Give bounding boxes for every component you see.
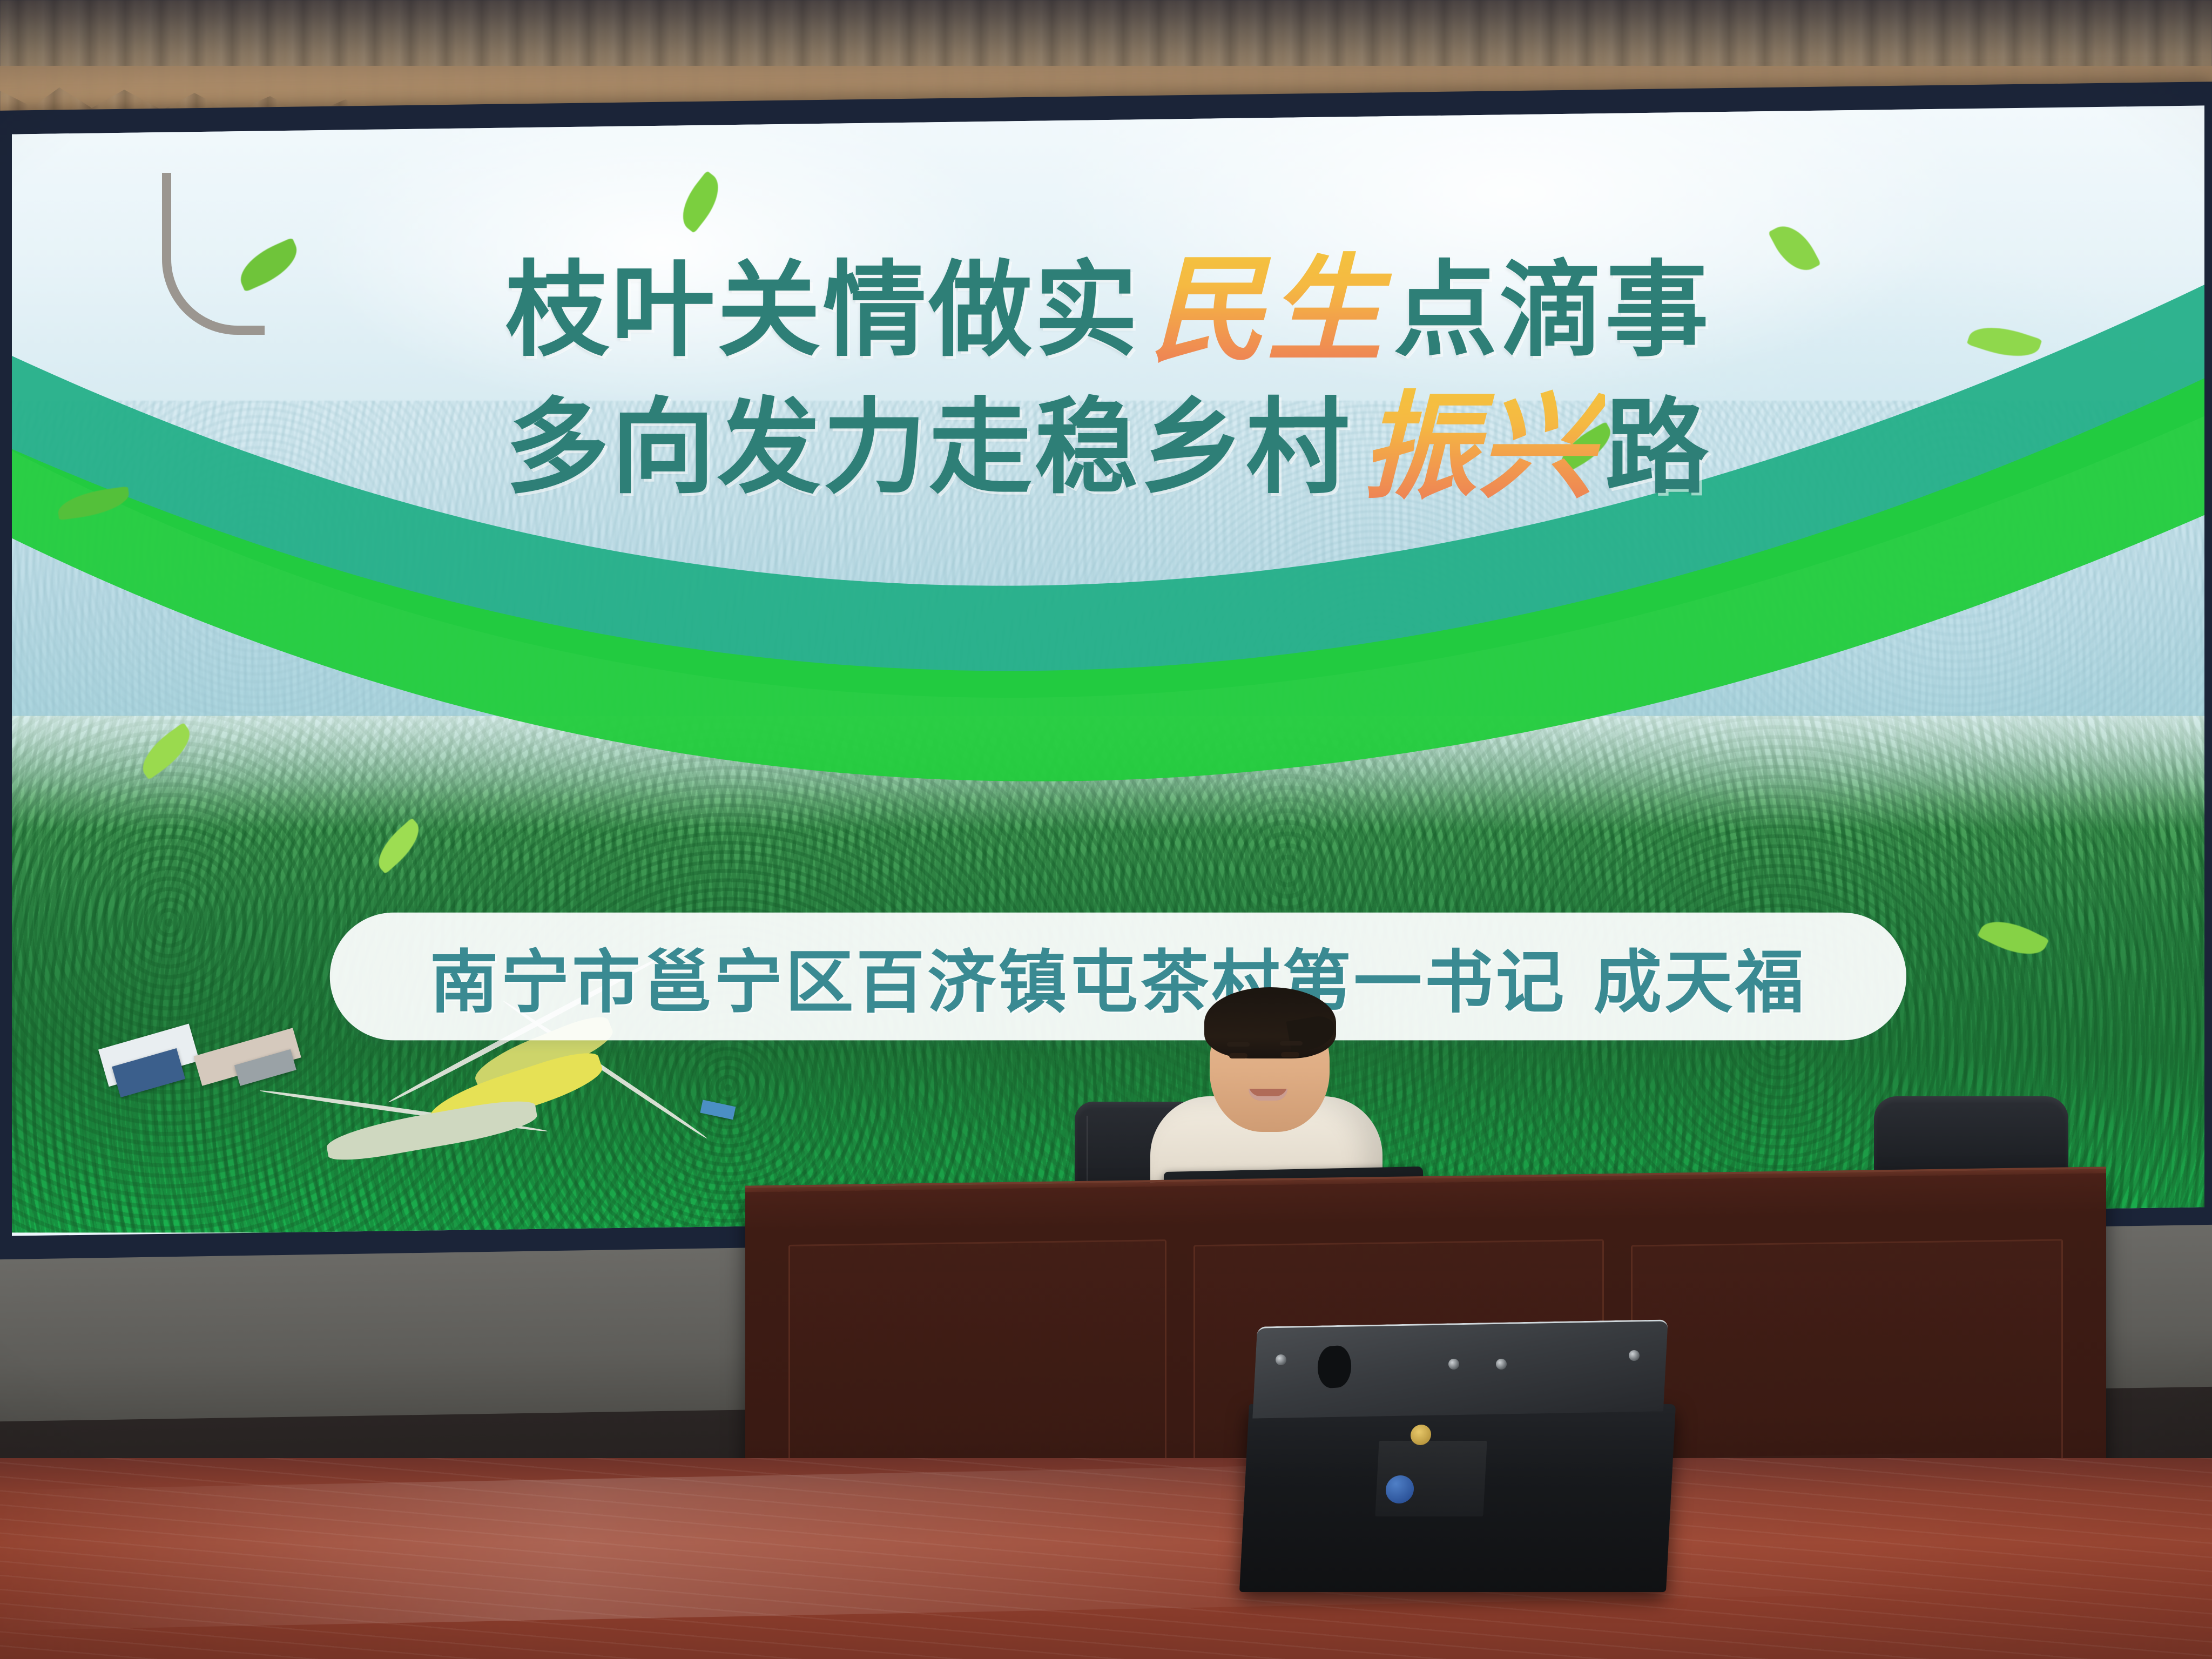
speaker-eye-right [1281, 1052, 1299, 1057]
village-road [259, 1088, 548, 1133]
headline-l2-part1: 多向发力走稳乡村 [505, 387, 1352, 508]
village-building [234, 1049, 296, 1086]
terraced-field [424, 1046, 606, 1138]
speaker-hair [1204, 987, 1336, 1058]
headline-l1-part2: 点滴事 [1393, 250, 1711, 370]
monitor-screw [1448, 1359, 1459, 1370]
monitor-screw [1496, 1359, 1507, 1370]
village-building [112, 1048, 186, 1097]
monitor-top-face [1252, 1319, 1668, 1418]
headline-l2-part2: 路 [1605, 387, 1711, 508]
village-building [700, 1100, 736, 1120]
monitor-screw [1276, 1354, 1286, 1365]
projection-screen: 枝叶关情做实民生点滴事 多向发力走稳乡村振兴路 南宁市邕宁区百济镇屯茶村第一书记… [12, 105, 2204, 1236]
speaker-eyebrow-left [1227, 1042, 1250, 1047]
speaker-eyebrow-right [1280, 1041, 1303, 1046]
terraced-field [324, 1096, 539, 1166]
headline-line-1: 枝叶关情做实民生点滴事 [12, 249, 2204, 372]
headline-line-2: 多向发力走稳乡村振兴路 [12, 386, 2204, 509]
monitor-screw [1629, 1350, 1640, 1361]
slide-subtitle-pill: 南宁市邕宁区百济镇屯茶村第一书记 成天福 [330, 912, 1907, 1040]
headline-l1-highlight: 民生 [1140, 242, 1393, 377]
speaker-eye-left [1229, 1053, 1247, 1058]
slide-headline: 枝叶关情做实民生点滴事 多向发力走稳乡村振兴路 [12, 249, 2204, 523]
auditorium-scene: 枝叶关情做实民生点滴事 多向发力走稳乡村振兴路 南宁市邕宁区百济镇屯茶村第一书记… [0, 0, 2212, 1659]
headline-l1-part1: 枝叶关情做实 [505, 250, 1140, 370]
stage-floor [0, 1458, 2212, 1659]
village-building [98, 1024, 199, 1087]
slide-subtitle-text: 南宁市邕宁区百济镇屯茶村第一书记 成天福 [430, 927, 1806, 1026]
headline-l2-highlight: 振兴 [1352, 380, 1605, 515]
village-building [193, 1028, 301, 1086]
stage-floor-monitor [1237, 1323, 1674, 1593]
speaker-mouth [1249, 1089, 1287, 1101]
